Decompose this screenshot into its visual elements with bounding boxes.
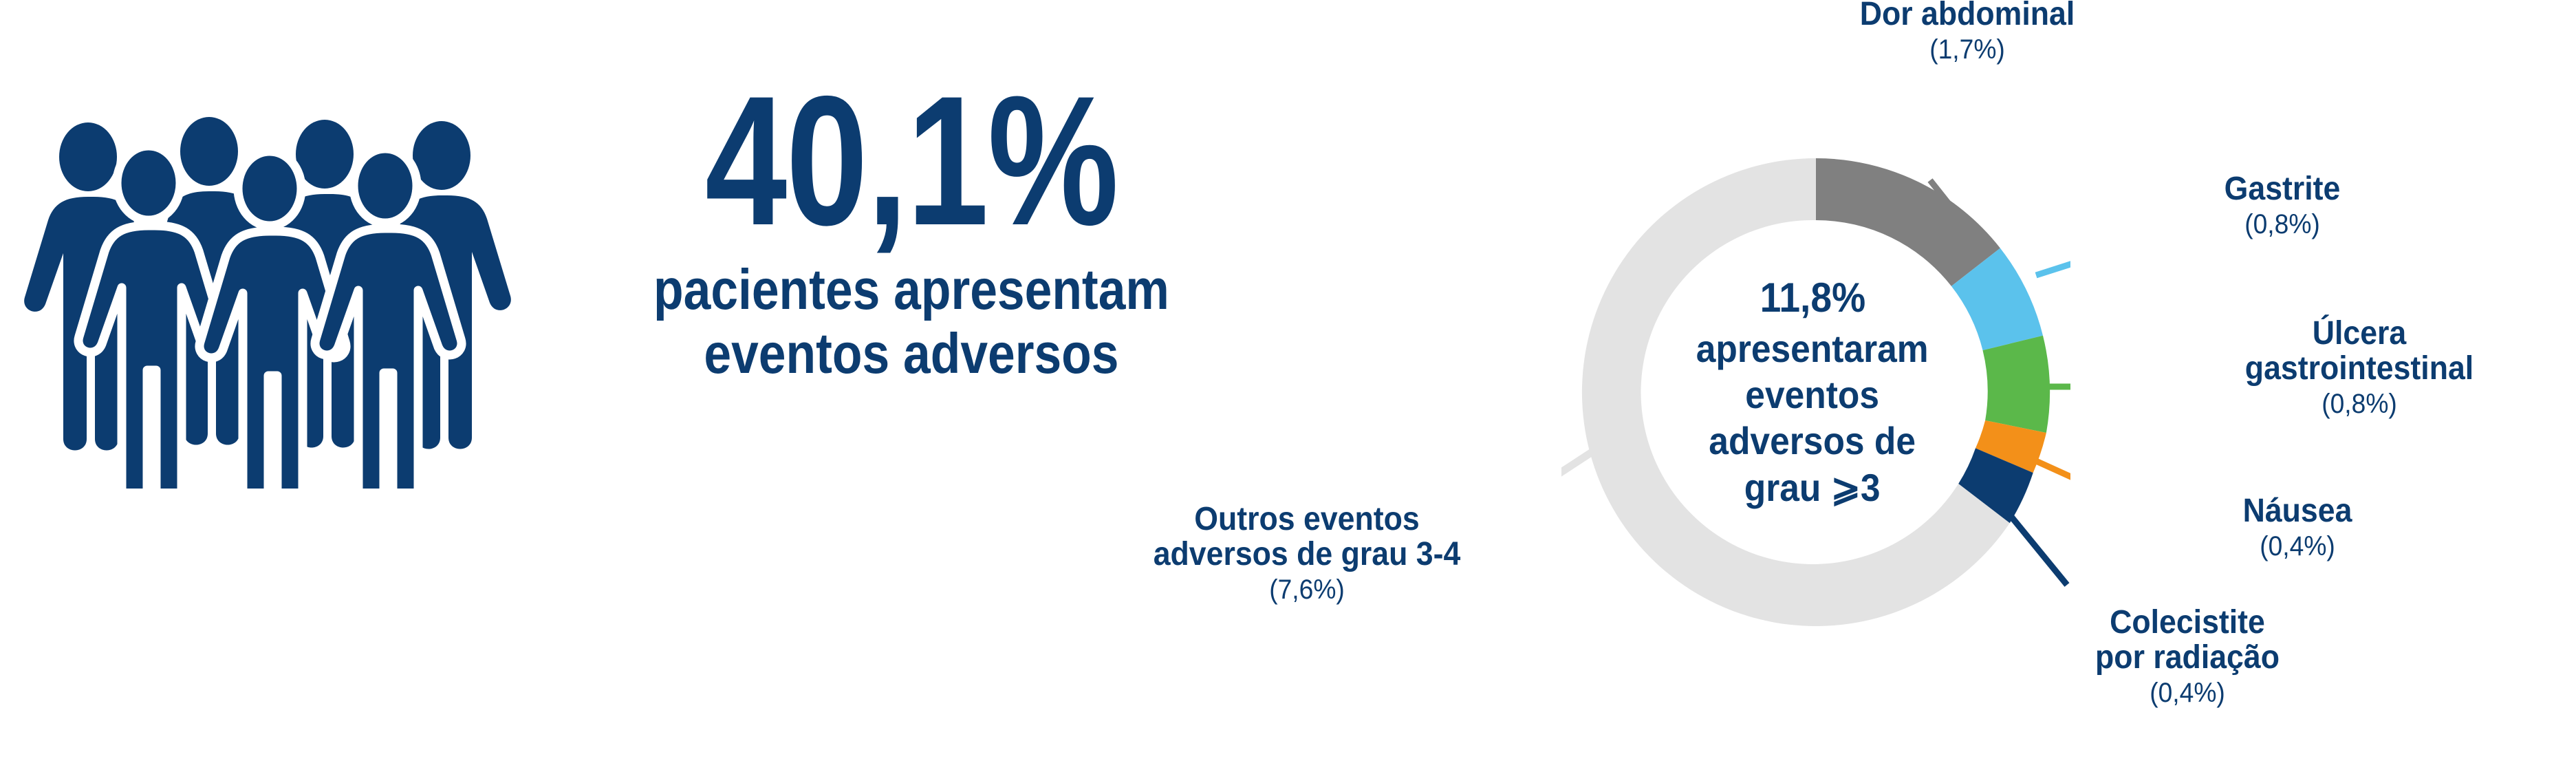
callout-dor-abdominal: Dor abdominal (1,7%) [1740, 0, 2194, 65]
callout-outros-eventos-adversos-percentage: (7,6%) [1051, 575, 1563, 605]
adverse-events-donut-chart [1561, 138, 2070, 647]
adverse-events-infographic: 40,1% pacientes apresentam eventos adver… [0, 0, 2576, 772]
callout-nausea-name: Náusea [2169, 494, 2425, 529]
callout-outros-eventos-adversos-name: Outros eventos adversos de grau 3-4 [1051, 502, 1563, 572]
big-stat-percentage: 40,1% [705, 76, 1118, 246]
headline-subtitle: pacientes apresentam eventos adversos [653, 258, 1169, 386]
headline-block: 40,1% pacientes apresentam eventos adver… [530, 76, 1293, 461]
callout-dor-abdominal-name: Dor abdominal [1756, 0, 2178, 32]
donut-slice-dor-abdominal [1816, 158, 2000, 286]
callout-ulcera-gastrointestinal-name: Úlcera gastrointestinal [2200, 317, 2520, 387]
callout-dor-abdominal-percentage: (1,7%) [1756, 34, 2178, 65]
leader-line-outros [1561, 449, 1597, 495]
callout-ulcera-gastrointestinal: Úlcera gastrointestinal (0,8%) [2187, 317, 2531, 420]
callout-colecistite-por-radiacao: Colecistite por radiação (0,4%) [1995, 605, 2380, 709]
leader-line-gastrite [2036, 253, 2070, 275]
callout-gastrite: Gastrite (0,8%) [2145, 172, 2420, 240]
callout-colecistite-por-radiacao-percentage: (0,4%) [2009, 678, 2367, 709]
callout-gastrite-name: Gastrite [2154, 172, 2410, 207]
callout-outros-eventos-adversos: Outros eventos adversos de grau 3-4 (7,6… [1032, 502, 1582, 605]
callout-nausea: Náusea (0,4%) [2160, 494, 2435, 562]
leader-line-nausea [2036, 461, 2070, 495]
leader-line-colecistite [2009, 513, 2067, 585]
callout-gastrite-percentage: (0,8%) [2154, 209, 2410, 240]
people-group-icon [14, 103, 537, 489]
callout-nausea-percentage: (0,4%) [2169, 531, 2425, 562]
callout-ulcera-gastrointestinal-percentage: (0,8%) [2200, 389, 2520, 420]
donut-slice-ulcera-gastrointestinal [1983, 336, 2050, 433]
callout-colecistite-por-radiacao-name: Colecistite por radiação [2009, 605, 2367, 676]
